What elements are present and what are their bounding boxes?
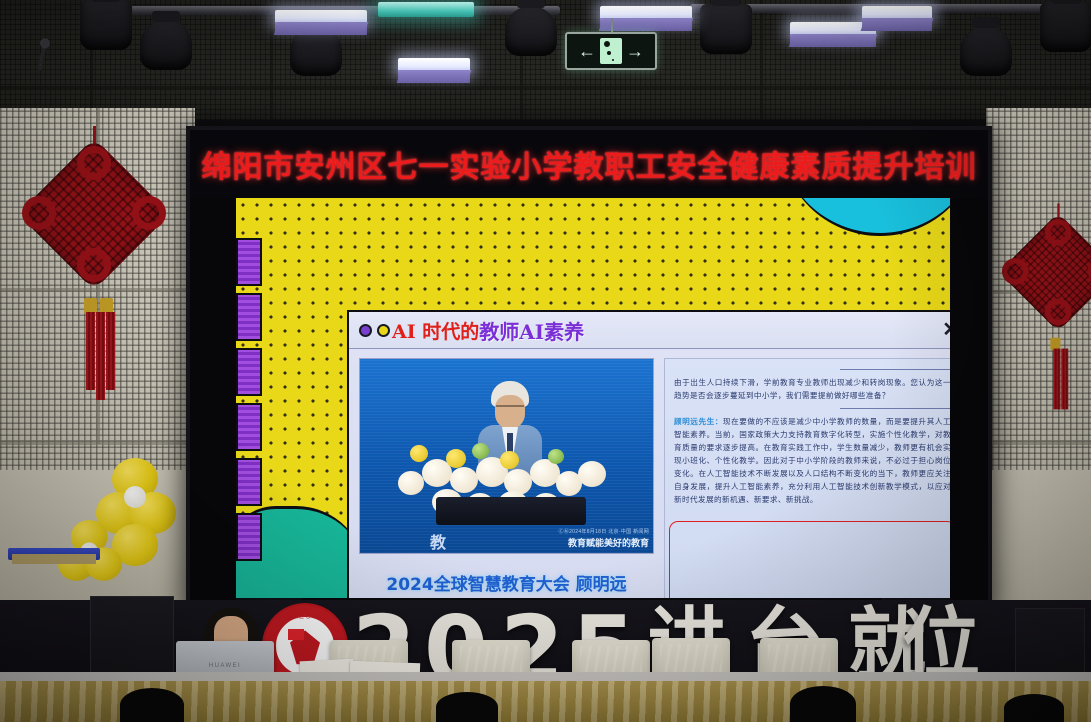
stage-spotlight [505, 6, 557, 56]
audience-head-silhouette [790, 686, 856, 722]
banner-title-text: 绵阳市安州区七一实验小学教职工安全健康素质提升培训 [202, 142, 977, 186]
fluorescent-light [862, 6, 932, 21]
document-body: 教 ⒸⓃ2024年8月18日 北京·中国 新闻网 教育赋能美好的教育 2024全… [349, 349, 950, 598]
side-table [8, 548, 100, 560]
photo-watermark-large: 教育赋能美好的教育 [568, 536, 649, 549]
laptop-brand-label: HUAWEI [209, 663, 241, 669]
photo-column: 教 ⒸⓃ2024年8月18日 北京·中国 新闻网 教育赋能美好的教育 2024全… [359, 358, 654, 598]
exit-sign-stem [611, 18, 613, 32]
purple-dot-icon [359, 324, 372, 337]
ceiling-seam [270, 0, 273, 120]
document-window: AI 时代的 教师AI素养 ✕ [347, 310, 950, 598]
chinese-knot-decoration-left [40, 160, 148, 268]
divider-top [840, 369, 950, 370]
divider-mid [840, 408, 950, 409]
banner-title-bar: 绵阳市安州区七一实验小学教职工安全健康素质提升培训 [190, 130, 988, 198]
fluorescent-light [378, 2, 474, 17]
stage-spotlight [1040, 2, 1091, 52]
emergency-exit-sign: ← → [565, 32, 657, 70]
yellow-dot-icon [377, 324, 390, 337]
conference-photo: 教 ⒸⓃ2024年8月18日 北京·中国 新闻网 教育赋能美好的教育 [359, 358, 654, 554]
stage-spotlight [140, 20, 192, 70]
running-man-icon [600, 38, 622, 64]
emblem-text: 绵阳市安州区七一实验小学 [264, 613, 346, 620]
fluorescent-light [398, 58, 470, 73]
red-highlight-box [669, 521, 950, 598]
audience-head-silhouette [1004, 694, 1064, 722]
led-display-wall: 绵阳市安州区七一实验小学教职工安全健康素质提升培训 AI 时代的 教师AI素养 … [186, 126, 992, 620]
fluorescent-light [275, 10, 367, 25]
stage-spotlight [700, 4, 752, 54]
text-column: 由于出生人口持续下滑，学前教育专业教师出现减少和转岗现象。您认为这一趋势是否会逐… [664, 358, 950, 598]
slide-title-red: AI 时代的 [392, 317, 479, 344]
fluorescent-light [600, 6, 692, 21]
slide-title-purple: 教师AI素养 [479, 316, 584, 345]
photo-watermark-small: ⒸⓃ2024年8月18日 北京·中国 新闻网 [558, 528, 649, 535]
wall-seam [986, 440, 1091, 445]
audience-head-silhouette [120, 688, 184, 722]
exit-right-arrow-icon: → [622, 42, 648, 60]
close-icon[interactable]: ✕ [942, 320, 950, 340]
ceiling-seam [0, 86, 1091, 89]
stage-spotlight [80, 0, 132, 50]
photo-chinese-overlay: 教 [430, 529, 446, 553]
flower-arrangement [388, 437, 628, 527]
exit-left-arrow-icon: ← [574, 42, 600, 60]
question-text: 由于出生人口持续下滑，学前教育专业教师出现减少和转岗现象。您认为这一趋势是否会逐… [674, 376, 950, 402]
purple-strip-decoration [236, 238, 262, 568]
audience-head-silhouette [436, 692, 498, 722]
photo-caption: 2024全球智慧教育大会 顾明远 [359, 570, 654, 595]
document-titlebar: AI 时代的 教师AI素养 ✕ [349, 312, 950, 349]
stage-spotlight [960, 26, 1012, 76]
chinese-knot-decoration-right [1016, 230, 1091, 314]
ceiling-seam [760, 0, 763, 120]
answer-text: 顾明远先生：现在要做的不应该是减少中小学教师的数量，而是要提升其人工智能素养。当… [674, 415, 950, 506]
auditorium-scene: ← → [0, 0, 1091, 722]
presentation-slide: AI 时代的 教师AI素养 ✕ [236, 198, 950, 598]
answer-speaker-name: 顾明远先生： [674, 417, 723, 426]
